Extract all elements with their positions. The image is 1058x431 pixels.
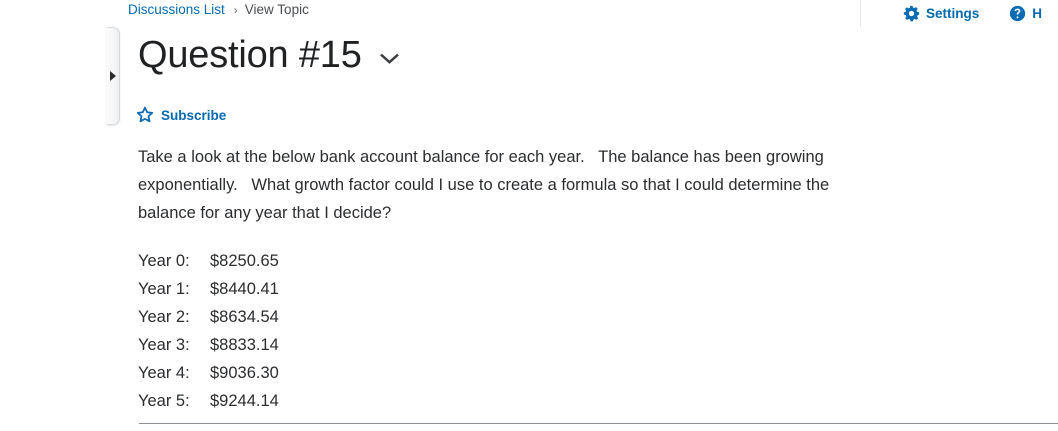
year-label: Year 3:: [138, 331, 210, 359]
breadcrumb: Discussions List›View Topic: [128, 1, 309, 19]
topic-body: Take a look at the below bank account ba…: [138, 143, 838, 415]
year-label: Year 1:: [138, 275, 210, 303]
subscribe-label: Subscribe: [161, 108, 226, 123]
list-item: Year 1: $8440.41: [138, 275, 838, 303]
help-circle-icon: [1009, 5, 1026, 22]
list-item: Year 5: $9244.14: [138, 387, 838, 415]
page-title: Question #15: [138, 30, 362, 80]
gear-icon: [903, 5, 920, 22]
help-label: H: [1032, 6, 1042, 21]
list-item: Year 3: $8833.14: [138, 331, 838, 359]
triangle-right-icon: [110, 71, 116, 81]
balance-amount: $8250.65: [210, 247, 279, 275]
balance-amount: $9244.14: [210, 387, 279, 415]
list-item: Year 2: $8634.54: [138, 303, 838, 331]
year-label: Year 2:: [138, 303, 210, 331]
year-label: Year 4:: [138, 359, 210, 387]
balance-amount: $8440.41: [210, 275, 279, 303]
balance-list: Year 0: $8250.65 Year 1: $8440.41 Year 2…: [138, 247, 838, 415]
page-title-row: Question #15: [138, 30, 399, 80]
balance-amount: $8634.54: [210, 303, 279, 331]
balance-amount: $9036.30: [210, 359, 279, 387]
balance-amount: $8833.14: [210, 331, 279, 359]
year-label: Year 5:: [138, 387, 210, 415]
panel-expand-handle[interactable]: [107, 27, 120, 125]
help-link[interactable]: H: [1009, 5, 1042, 22]
utility-bar: Settings H: [860, 0, 1058, 27]
year-label: Year 0:: [138, 247, 210, 275]
content-divider: [139, 423, 1058, 424]
subscribe-link[interactable]: Subscribe: [136, 106, 226, 124]
topic-paragraph: Take a look at the below bank account ba…: [138, 143, 838, 227]
breadcrumb-discussions-list[interactable]: Discussions List: [128, 2, 225, 17]
star-outline-icon: [136, 106, 154, 124]
breadcrumb-separator-icon: ›: [234, 3, 238, 17]
utility-separator: [860, 0, 861, 27]
breadcrumb-current: View Topic: [245, 2, 309, 17]
list-item: Year 4: $9036.30: [138, 359, 838, 387]
list-item: Year 0: $8250.65: [138, 247, 838, 275]
settings-label: Settings: [926, 6, 979, 21]
chevron-down-icon[interactable]: [380, 45, 399, 65]
settings-link[interactable]: Settings: [903, 5, 979, 22]
